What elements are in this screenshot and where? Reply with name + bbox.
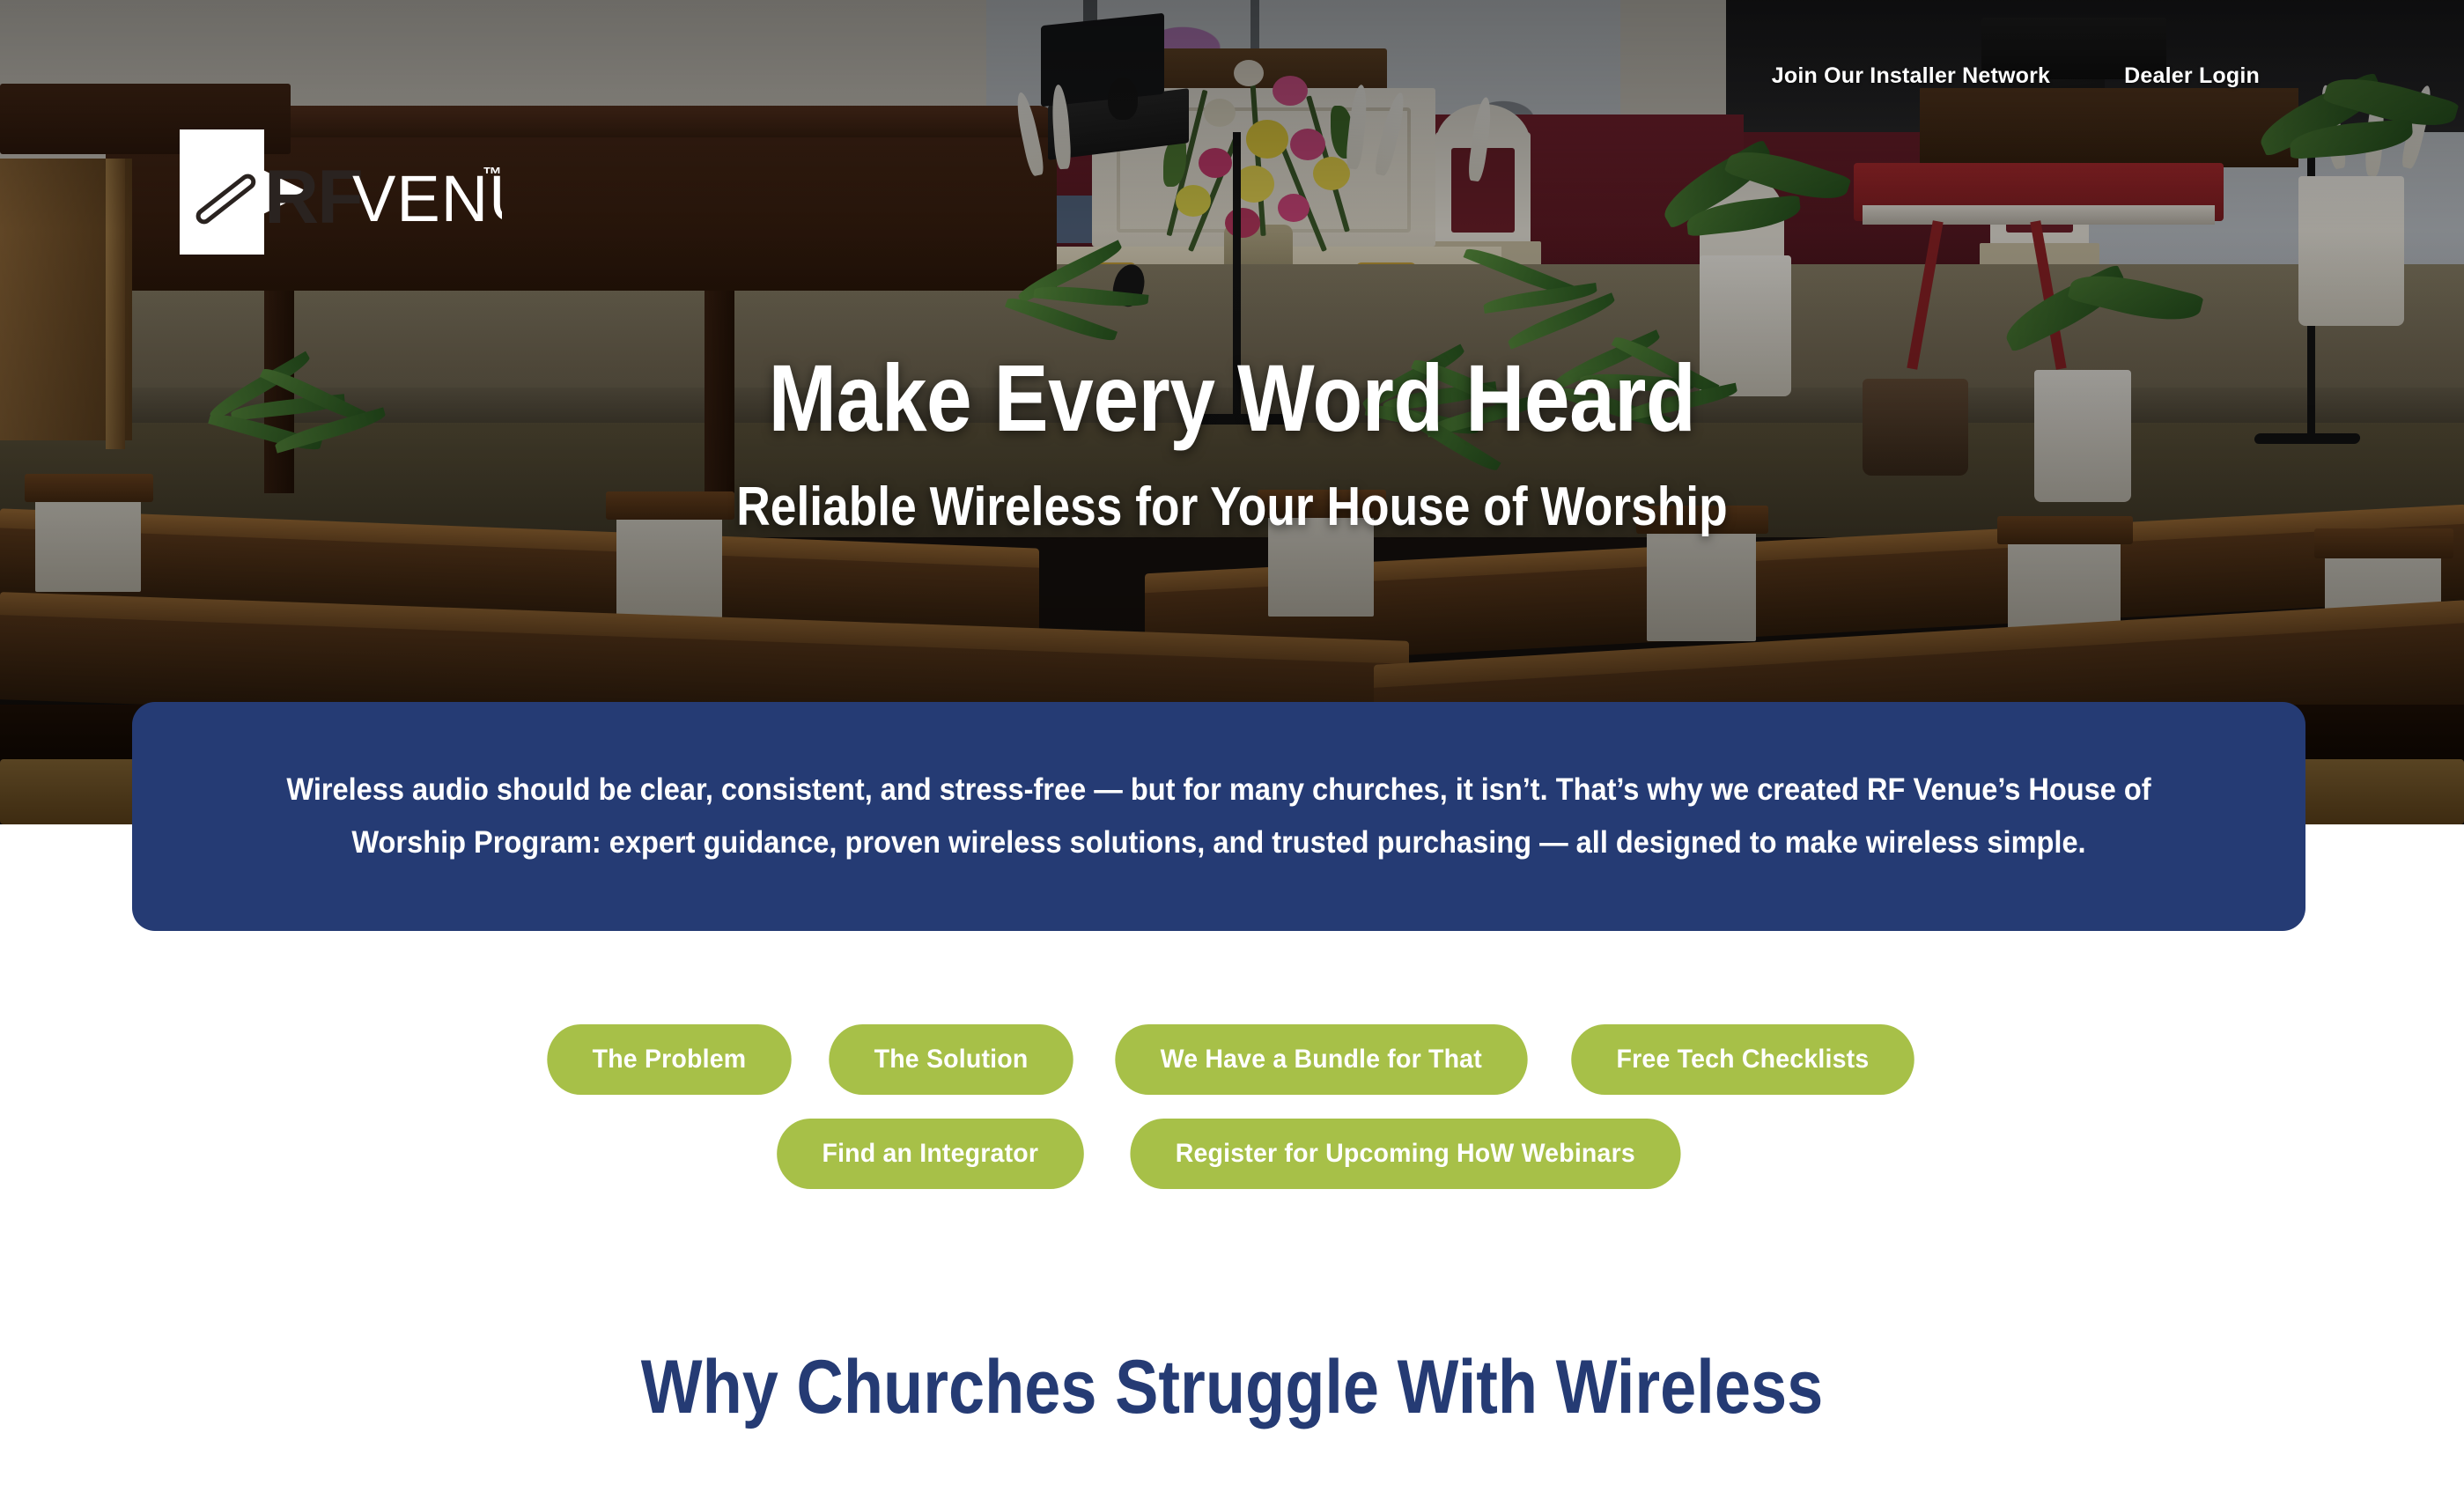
svg-text:RF: RF xyxy=(264,155,362,240)
rf-venue-logo[interactable]: RF VENUE ™ xyxy=(176,130,502,254)
svg-text:™: ™ xyxy=(483,163,502,185)
quick-link-buttons: The Problem The Solution We Have a Bundl… xyxy=(0,1024,2464,1189)
intro-callout-text: Wireless audio should be clear, consiste… xyxy=(274,764,2164,869)
hero-text-block: Make Every Word Heard Reliable Wireless … xyxy=(0,348,2464,538)
nav-link-dealer-login[interactable]: Dealer Login xyxy=(2124,63,2260,89)
quick-link-row-1: The Problem The Solution We Have a Bundl… xyxy=(541,1024,1923,1095)
pill-the-solution[interactable]: The Solution xyxy=(829,1024,1073,1095)
hero-title: Make Every Word Heard xyxy=(173,348,2291,448)
section-heading-block: Why Churches Struggle With Wireless xyxy=(0,1346,2464,1429)
hero-subtitle: Reliable Wireless for Your House of Wors… xyxy=(173,476,2291,537)
rf-venue-play-mark-icon: RF VENUE ™ xyxy=(176,126,502,258)
nav-links: Join Our Installer Network Dealer Login xyxy=(1772,63,2260,89)
top-navigation: RF VENUE ™ Join Our Installer Network De… xyxy=(0,0,2464,167)
section-heading: Why Churches Struggle With Wireless xyxy=(173,1346,2291,1429)
pill-tech-checklists[interactable]: Free Tech Checklists xyxy=(1572,1024,1914,1095)
pill-register-webinars[interactable]: Register for Upcoming HoW Webinars xyxy=(1131,1119,1681,1189)
landing-page: RF VENUE ™ Join Our Installer Network De… xyxy=(0,0,2464,1492)
nav-link-installer-network[interactable]: Join Our Installer Network xyxy=(1772,63,2050,89)
intro-callout-box: Wireless audio should be clear, consiste… xyxy=(132,702,2305,931)
pill-the-problem[interactable]: The Problem xyxy=(547,1024,791,1095)
pill-find-integrator[interactable]: Find an Integrator xyxy=(777,1119,1083,1189)
quick-link-row-2: Find an Integrator Register for Upcoming… xyxy=(769,1119,1695,1189)
pill-bundle[interactable]: We Have a Bundle for That xyxy=(1115,1024,1527,1095)
svg-text:VENUE: VENUE xyxy=(352,162,502,235)
